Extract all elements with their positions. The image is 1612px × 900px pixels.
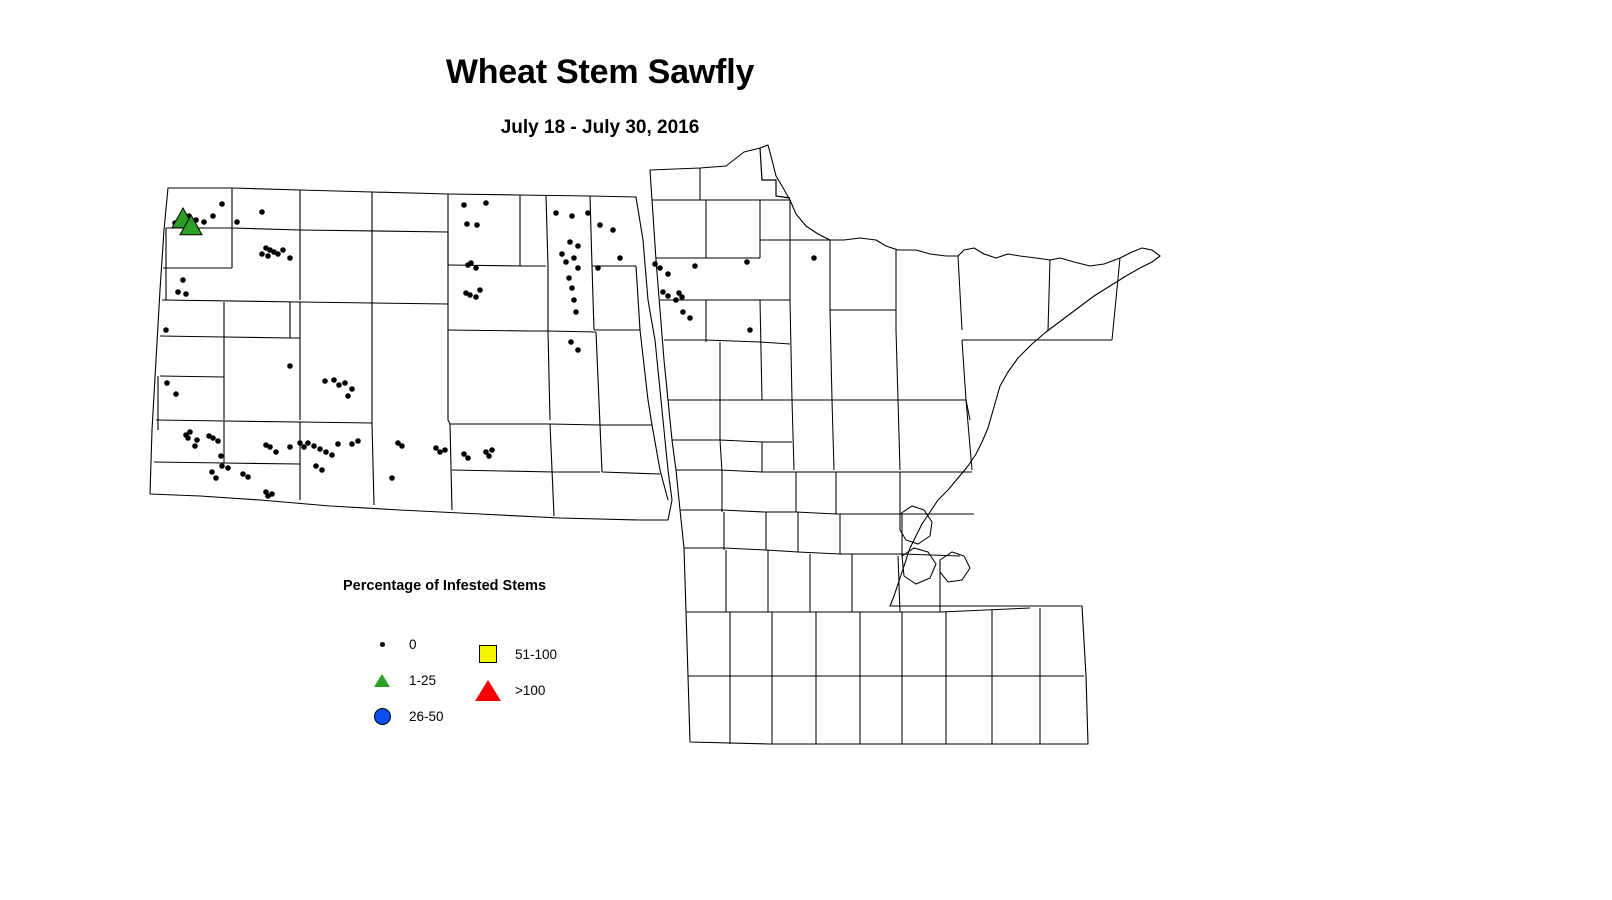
data-point-zero — [317, 446, 323, 452]
data-point-zero — [687, 315, 693, 321]
yellow-square-icon — [475, 641, 501, 667]
red-triangle-icon — [475, 677, 501, 703]
data-point-zero — [389, 475, 395, 481]
data-point-zero — [319, 467, 325, 473]
data-point-zero — [265, 253, 271, 259]
data-point-zero — [313, 463, 319, 469]
data-point-zero — [185, 435, 191, 441]
legend-item-label: 51-100 — [515, 647, 557, 662]
data-point-zero — [473, 265, 479, 271]
green-triangle-icon — [369, 667, 395, 693]
data-point-zero — [563, 259, 569, 265]
data-point-zero — [553, 210, 559, 216]
data-point-zero — [660, 289, 666, 295]
data-point-zero — [483, 200, 489, 206]
data-point-zero — [349, 386, 355, 392]
minnesota-counties — [650, 145, 1160, 744]
data-point-zero — [245, 474, 251, 480]
data-point-zero — [259, 251, 265, 257]
data-point-zero — [336, 382, 342, 388]
data-point-zero — [273, 449, 279, 455]
map-canvas — [0, 0, 1612, 900]
data-point-zero — [210, 435, 216, 441]
data-point-zero — [569, 285, 575, 291]
legend-item-0[interactable]: 0 — [369, 626, 444, 662]
data-point-zero — [657, 265, 663, 271]
data-point-zero — [234, 219, 240, 225]
data-point-zero — [566, 275, 572, 281]
data-point-zero — [811, 255, 817, 261]
data-point-zero — [322, 378, 328, 384]
data-point-zero — [575, 243, 581, 249]
data-point-zero — [573, 309, 579, 315]
data-point-zero — [433, 445, 439, 451]
data-point-zero — [747, 327, 753, 333]
data-point-zero — [342, 380, 348, 386]
data-point-zero — [240, 471, 246, 477]
data-point-zero — [305, 440, 311, 446]
legend-item-label: 1-25 — [409, 673, 436, 688]
data-point-zero — [437, 449, 443, 455]
data-point-zero — [329, 452, 335, 458]
data-point-zero — [673, 297, 679, 303]
data-point-zero — [301, 444, 307, 450]
data-point-zero — [567, 239, 573, 245]
data-point-zero — [213, 475, 219, 481]
data-point-zero — [486, 453, 492, 459]
legend-item-over-100[interactable]: >100 — [475, 672, 557, 708]
data-point-zero — [571, 255, 577, 261]
data-point-zero — [180, 277, 186, 283]
data-point-zero — [259, 209, 265, 215]
data-point-zero — [559, 251, 565, 257]
data-point-zero — [399, 443, 405, 449]
data-point-zero — [218, 453, 224, 459]
legend-item-1-25[interactable]: 1-25 — [369, 662, 444, 698]
data-point-zero — [474, 222, 480, 228]
data-point-zero — [215, 438, 221, 444]
data-point-zero — [597, 222, 603, 228]
data-point-zero — [297, 440, 303, 446]
data-point-zero — [335, 441, 341, 447]
data-point-zero — [575, 265, 581, 271]
data-point-zero — [345, 393, 351, 399]
data-point-zero — [163, 327, 169, 333]
data-point-zero — [209, 469, 215, 475]
legend-item-51-100[interactable]: 51-100 — [475, 636, 557, 672]
legend-item-label: 0 — [409, 637, 417, 652]
legend-title: Percentage of Infested Stems — [343, 578, 546, 594]
data-point-zero — [175, 289, 181, 295]
data-point-zero — [265, 493, 271, 499]
data-point-zero — [287, 444, 293, 450]
data-point-zero — [331, 377, 337, 383]
data-point-zero — [465, 262, 471, 268]
county-map — [0, 0, 1612, 900]
data-point-zero — [585, 210, 591, 216]
map-legend: Percentage of Infested Stems 0 1-25 26-5… — [343, 578, 643, 728]
legend-item-label: >100 — [515, 683, 545, 698]
data-point-zero — [571, 297, 577, 303]
data-point-zero — [617, 255, 623, 261]
data-point-zero — [610, 227, 616, 233]
data-point-zero — [192, 443, 198, 449]
data-point-zero — [569, 213, 575, 219]
data-point-zero — [744, 259, 750, 265]
data-point-zero — [652, 261, 658, 267]
legend-item-label: 26-50 — [409, 709, 444, 724]
data-point-zero — [355, 438, 361, 444]
data-point-zero — [568, 339, 574, 345]
data-point-zero — [442, 447, 448, 453]
legend-column-left: 0 1-25 26-50 — [369, 626, 444, 734]
data-point-zero — [477, 287, 483, 293]
data-point-zero — [267, 444, 273, 450]
data-point-zero — [219, 201, 225, 207]
data-point-zero — [173, 391, 179, 397]
data-point-zero — [489, 447, 495, 453]
data-point-zero — [280, 247, 286, 253]
data-point-zero — [219, 463, 225, 469]
data-point-zero — [201, 219, 207, 225]
data-point-zero — [595, 265, 601, 271]
data-point-zero — [349, 441, 355, 447]
data-point-zero — [464, 221, 470, 227]
zero-dot-icon — [369, 631, 395, 657]
data-point-zero — [225, 465, 231, 471]
blue-circle-icon — [369, 703, 395, 729]
data-point-zero — [461, 202, 467, 208]
data-point-zero — [183, 291, 189, 297]
data-point-zero — [287, 255, 293, 261]
data-point-zero — [311, 443, 317, 449]
data-point-zero — [210, 213, 216, 219]
data-point-zero — [665, 271, 671, 277]
legend-column-right: 51-100 >100 — [475, 636, 557, 708]
data-point-zero — [665, 293, 671, 299]
data-point-zero — [465, 455, 471, 461]
data-point-zero — [164, 380, 170, 386]
data-point-zero — [680, 309, 686, 315]
data-point-zero — [679, 294, 685, 300]
map-page: Wheat Stem Sawfly July 18 - July 30, 201… — [0, 0, 1612, 900]
data-point-zero — [467, 292, 473, 298]
data-point-zero — [187, 429, 193, 435]
data-point-zero — [461, 451, 467, 457]
data-point-zero — [287, 363, 293, 369]
data-point-zero — [575, 347, 581, 353]
data-point-zero — [275, 251, 281, 257]
data-point-zero — [473, 294, 479, 300]
legend-item-26-50[interactable]: 26-50 — [369, 698, 444, 734]
data-point-zero — [692, 263, 698, 269]
data-point-zero — [323, 449, 329, 455]
data-point-zero — [194, 437, 200, 443]
